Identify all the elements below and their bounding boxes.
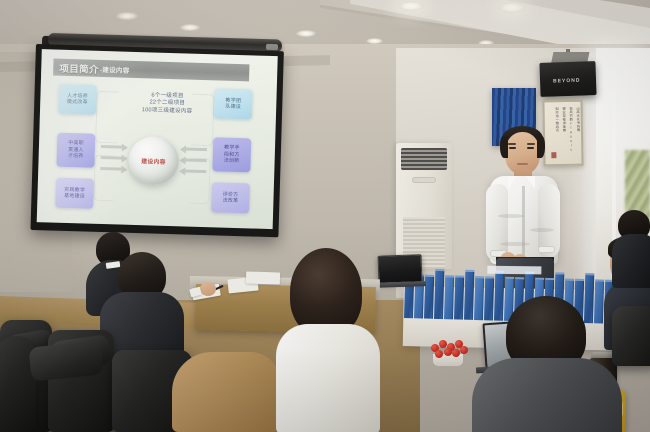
audience-tan-coat-person [172,352,282,432]
laptop-center-screen [378,254,423,284]
presenter-collar-right [526,176,535,189]
downlight-3 [296,30,316,37]
connector-right-top [191,94,215,147]
calligraphy-column-1: 山高水长书剑情 [575,107,579,132]
arrow-left-1 [101,145,123,149]
slide-box-left-1: 人才培养 模式改革 [58,84,97,115]
presenter-shirt-fold-3 [500,242,530,246]
body [172,352,280,432]
presenter-shirt-placket [522,186,525,262]
slide-title-bar: 项目简介 -建设内容 [53,59,249,82]
ac-top-grille [401,148,447,170]
speaker-brand-label: BEYOND [553,78,581,85]
presenter-hair-side-left [500,136,508,158]
presenter-collar-left [508,176,517,189]
conference-room-photo: BEYOND 山高水长书剑情 松风竹韵classic 德业双修求至善 知行合一致… [0,0,650,432]
downlight-6 [498,2,526,13]
downlight-2 [180,24,200,31]
folder-box [444,275,454,319]
slide-box-right-3: 评价方 法改革 [211,182,250,213]
screen-roller-button[interactable] [266,44,278,50]
arrow-right-1 [185,147,207,151]
slide-subtitle: -建设内容 [100,63,130,74]
connector-left-top [95,91,119,144]
presenter-shirt-fold-1 [498,214,524,218]
wall-speaker: BEYOND [539,61,596,97]
presenter-cuff-right [538,246,555,253]
flower [444,348,452,356]
folder-box [434,269,444,319]
slide-title: 项目简介 [59,60,99,75]
body [612,234,650,288]
presenter-head [505,132,540,174]
downlight-1 [116,12,138,20]
projected-slide: 项目简介 -建设内容 6个一级项目 22个二级项目 100项三级建设内容 [37,49,278,229]
audience-curly-woman [276,248,380,432]
body [472,358,622,432]
air-conditioner [396,143,452,269]
slide-box-left-2: 中高职 贯通人 才培养 [56,133,95,168]
presenter-hair-side-right [537,136,545,158]
ac-badge [412,177,436,183]
connector-left-bot [93,155,114,202]
slide-box-right-2: 教学手 段和方 法创新 [212,137,251,172]
audience-gray-sweater-man [472,296,622,432]
slide-box-right-1: 教学团 队建设 [214,88,253,119]
arrow-left-2 [101,156,123,160]
hub-sphere: 建设内容 [128,136,179,185]
hair [290,248,362,336]
chair-right-foreground[interactable] [612,306,650,366]
flower [452,349,460,357]
audience-front-left-hand [200,282,216,296]
arrow-right-3 [184,169,206,173]
flower [435,350,443,358]
presenter-brow-right [527,143,535,145]
flower [439,340,447,348]
presenter-brow-left [508,143,516,145]
presenter-mouth [517,163,528,165]
projection-screen: 项目简介 -建设内容 6个一级项目 22个二级项目 100项三级建设内容 [30,44,283,237]
hub-sphere-label: 建设内容 [141,156,166,166]
connector-right-bot [189,158,210,205]
arrow-right-2 [185,158,207,162]
folder-box [454,275,464,319]
downlight-4 [398,1,424,11]
folder-paper-stack [487,266,541,275]
flower [460,346,468,354]
body-white-coat [276,324,380,432]
audience-far-right-man [612,210,650,284]
flower-arrangement [430,340,472,362]
slide-box-left-3: 实践教学 基地建设 [55,178,94,209]
arrow-left-3 [100,167,122,171]
presenter-shirt-fold-2 [530,228,554,232]
